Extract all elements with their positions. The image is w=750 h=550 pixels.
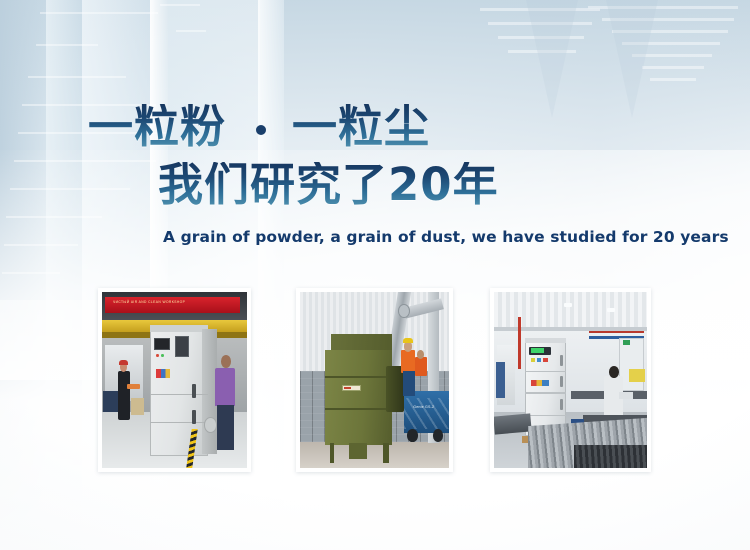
gallery-photo-white-cabinet-dust-collector-in-workshop[interactable] [490, 288, 651, 472]
photo-3-cabinet-seam-1 [525, 371, 566, 372]
photo-1-worker-left-body [118, 371, 130, 420]
photo-3-steel-frame-left [494, 414, 531, 435]
photo-3-button-blue [537, 358, 542, 362]
photo-1-access-handle-upper [192, 384, 196, 398]
photo-2-dust-collector-body [325, 350, 392, 445]
photo-1-indicator-lamp-red [156, 354, 159, 358]
photo-1-cabinet-seam-lower [150, 422, 208, 423]
photo-3-exit-sign [623, 340, 631, 345]
photo-1-cabinet-top [150, 325, 208, 332]
photo-2-scissor-lift-arms [404, 398, 449, 430]
photo-2-nameplate [342, 385, 361, 391]
photo-3-ceiling-lamp-left [564, 303, 572, 307]
photo-2-worker-hard-hat [403, 338, 413, 343]
photo-3-image [494, 292, 647, 468]
photo-2-support-leg-right [383, 443, 388, 462]
photo-3-door-handle-1 [560, 355, 564, 366]
photo-1-worker-right-shirt [215, 368, 235, 407]
photo-3-digital-display [531, 348, 545, 353]
gallery-photo-olive-green-dust-collector-with-lift[interactable]: Genie GS-2 [296, 288, 453, 472]
photo-1-brand-sticker [156, 369, 171, 378]
photo-1-banner-text: ЧИСТЫЙ AIR AND CLEAN WORKSHOP [113, 300, 185, 304]
gallery-photo-grey-cabinet-dust-collector-in-factory[interactable]: ЧИСТЫЙ AIR AND CLEAN WORKSHOP [98, 288, 251, 472]
photo-1-carton [131, 398, 144, 416]
photo-3-brand-sticker [531, 380, 549, 386]
photo-3-door-handle-3 [560, 399, 564, 410]
photo-gallery: ЧИСТЫЙ AIR AND CLEAN WORKSHOP [0, 0, 750, 550]
photo-3-blue-bin-left [496, 362, 505, 397]
photo-3-red-pipe-vertical [518, 317, 520, 370]
photo-1-access-handle-lower [192, 410, 196, 424]
photo-3-yellow-equipment [629, 369, 646, 381]
photo-2-dust-hopper [349, 443, 367, 459]
photo-3-button-yellow [531, 358, 536, 362]
photo-2-lift-wheel-left [407, 429, 417, 441]
photo-3-button-red [543, 358, 548, 362]
photo-3-door-handle-2 [560, 376, 564, 387]
photo-1-inverter-box [175, 336, 190, 357]
photo-3-cabinet-top [525, 338, 566, 343]
photo-3-red-pipe-horizontal [589, 331, 644, 333]
photo-3-doorway [619, 338, 643, 391]
photo-2-collector-seam-upper [325, 376, 392, 377]
photo-2-worker-hivis-vest [401, 350, 414, 373]
photo-2-floor [300, 442, 449, 468]
photo-1-worker-left-cap [119, 360, 128, 365]
photo-3-worker-arm [619, 392, 633, 399]
photo-3-ceiling [494, 292, 647, 327]
photo-1-image: ЧИСТЫЙ AIR AND CLEAN WORKSHOP [102, 292, 247, 468]
photo-1-worker-right-head [221, 355, 231, 367]
photo-2-lift-text: Genie GS-2 [413, 405, 434, 409]
photo-2-worker-legs [403, 371, 415, 396]
photo-3-dark-rail-bundle [574, 445, 647, 468]
photo-1-worker-right-legs [217, 405, 234, 451]
photo-3-cabinet-seam-2 [525, 392, 566, 393]
photo-3-ceiling-lamp-right [607, 308, 615, 312]
photo-1-inspection-port [204, 417, 217, 433]
photo-2-image: Genie GS-2 [300, 292, 449, 468]
photo-1-worker-left-arm [127, 384, 140, 389]
photo-1-cabinet-seam-upper [150, 394, 208, 395]
photo-2-support-leg-left [330, 443, 334, 462]
photo-2-collector-seam-lower [325, 408, 392, 409]
photo-2-lift-wheel-right [433, 429, 443, 441]
photo-1-red-banner: ЧИСТЫЙ AIR AND CLEAN WORKSHOP [105, 297, 240, 313]
promotional-banner: 一粒粉 一粒尘 我们研究了20年 A grain of powder, a gr… [0, 0, 750, 550]
photo-3-cabinet-seam-3 [525, 415, 566, 416]
photo-2-second-worker-vest [415, 357, 427, 376]
photo-1-control-panel [154, 338, 170, 350]
